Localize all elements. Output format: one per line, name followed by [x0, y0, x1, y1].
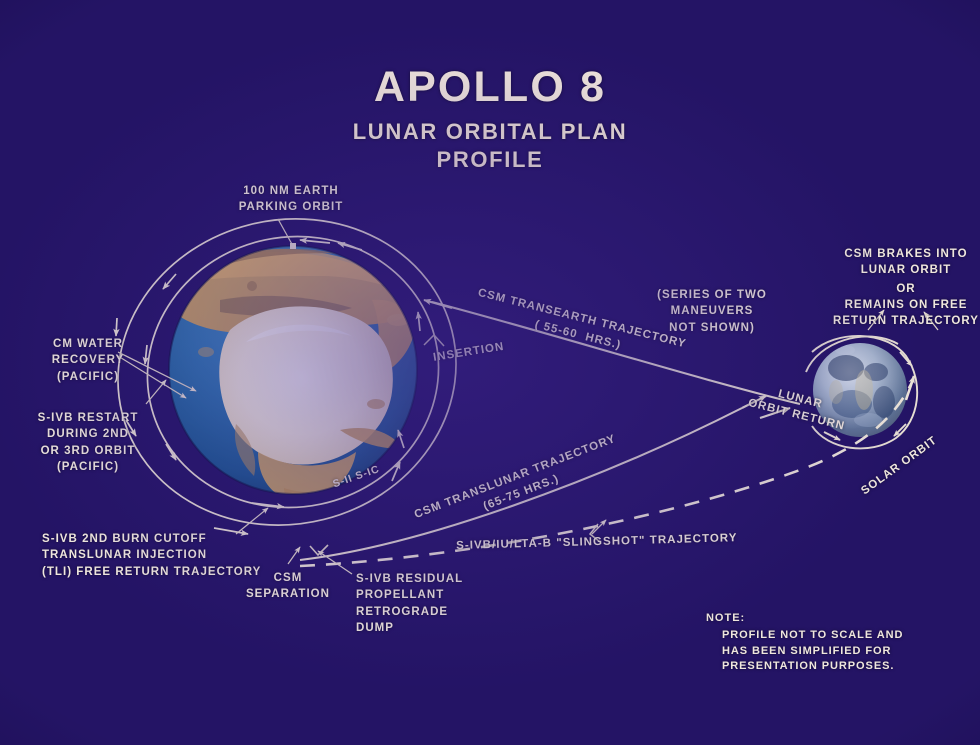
note-heading: NOTE:: [706, 611, 745, 627]
label-csm-separation: CSM SEPARATION: [236, 570, 340, 603]
note-body: PROFILE NOT TO SCALE AND HAS BEEN SIMPLI…: [722, 628, 903, 675]
page-title: APOLLO 8: [300, 66, 680, 109]
label-parking-orbit: 100 NM EARTH PARKING ORBIT: [196, 183, 386, 216]
label-tli-cutoff: S-IVB 2ND BURN CUTOFF TRANSLUNAR INJECTI…: [42, 531, 261, 580]
apollo-8-lunar-orbital-plan-diagram: APOLLO 8 LUNAR ORBITAL PLAN PROFILE 100 …: [0, 0, 980, 745]
label-sivb-restart: S-IVB RESTART DURING 2ND OR 3RD ORBIT (P…: [14, 410, 162, 475]
label-sivb-residual-dump: S-IVB RESIDUAL PROPELLANT RETROGRADE DUM…: [356, 571, 463, 636]
slingshot-arrow: [906, 376, 914, 400]
label-csm-brakes-or: OR: [832, 281, 980, 297]
transearth-arrow: [424, 300, 452, 308]
page-subtitle-line1: LUNAR ORBITAL PLAN: [300, 118, 680, 147]
label-csm-free-return: REMAINS ON FREE RETURN TRAJECTORY: [832, 297, 980, 330]
label-csm-brakes: CSM BRAKES INTO LUNAR ORBIT: [832, 246, 980, 279]
page-subtitle-line2: PROFILE: [300, 146, 680, 175]
label-cm-water-recovery: CM WATER RECOVERY (PACIFIC): [22, 336, 154, 385]
